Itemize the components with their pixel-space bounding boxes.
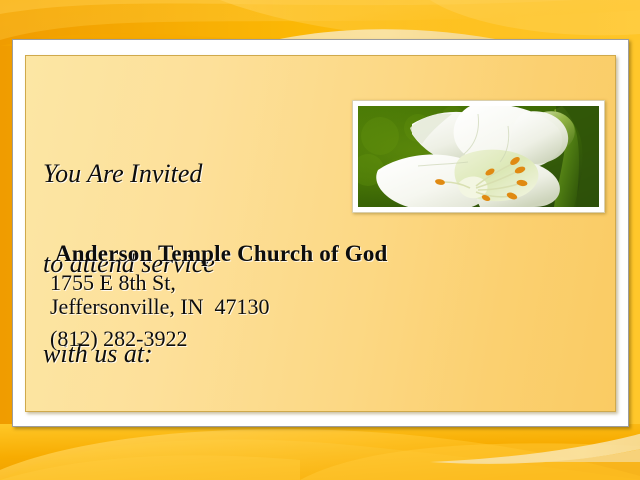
church-name: Anderson Temple Church of God xyxy=(55,240,388,267)
address-block: Anderson Temple Church of God 1755 E 8th… xyxy=(50,240,388,351)
lily-flower-image xyxy=(358,106,599,207)
street-address: 1755 E 8th St, xyxy=(50,271,388,295)
lily-photo-frame xyxy=(352,100,605,213)
city-state-zip: Jeffersonville, IN 47130 xyxy=(50,295,388,319)
lily-flower-photo xyxy=(358,106,599,207)
invitation-slide: You Are Invited to attend service with u… xyxy=(0,0,640,480)
phone-number: (812) 282-3922 xyxy=(50,327,388,351)
heading-line-1: You Are Invited xyxy=(43,159,215,189)
